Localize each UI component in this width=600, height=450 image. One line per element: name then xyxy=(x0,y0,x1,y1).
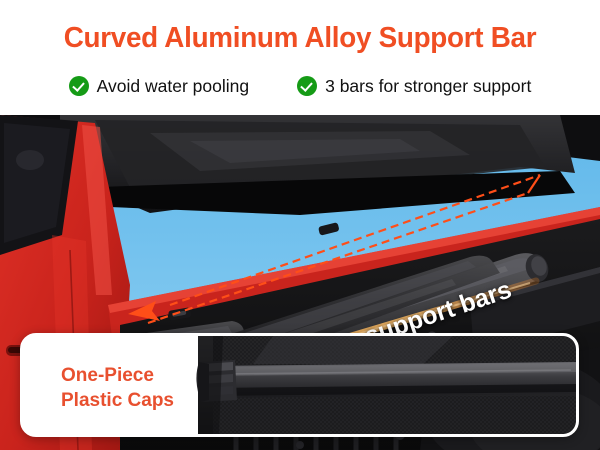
inset-caption-line-1: One-Piece xyxy=(61,363,174,388)
feature-bullet-2: 3 bars for stronger support xyxy=(297,76,531,97)
feature-bullet-1-label: Avoid water pooling xyxy=(97,76,249,97)
inset-caption-line-2: Plastic Caps xyxy=(61,388,174,413)
header-banner: Curved Aluminum Alloy Support Bar Avoid … xyxy=(0,0,600,115)
check-circle-icon xyxy=(69,76,89,96)
check-circle-icon xyxy=(297,76,317,96)
inset-detail-card: One-Piece Plastic Caps xyxy=(20,333,579,437)
feature-bullet-1: Avoid water pooling xyxy=(69,76,249,97)
feature-bullet-list: Avoid water pooling 3 bars for stronger … xyxy=(0,66,600,106)
page-title: Curved Aluminum Alloy Support Bar xyxy=(12,22,588,55)
feature-bullet-2-label: 3 bars for stronger support xyxy=(325,76,531,97)
inset-caption: One-Piece Plastic Caps xyxy=(61,363,174,413)
